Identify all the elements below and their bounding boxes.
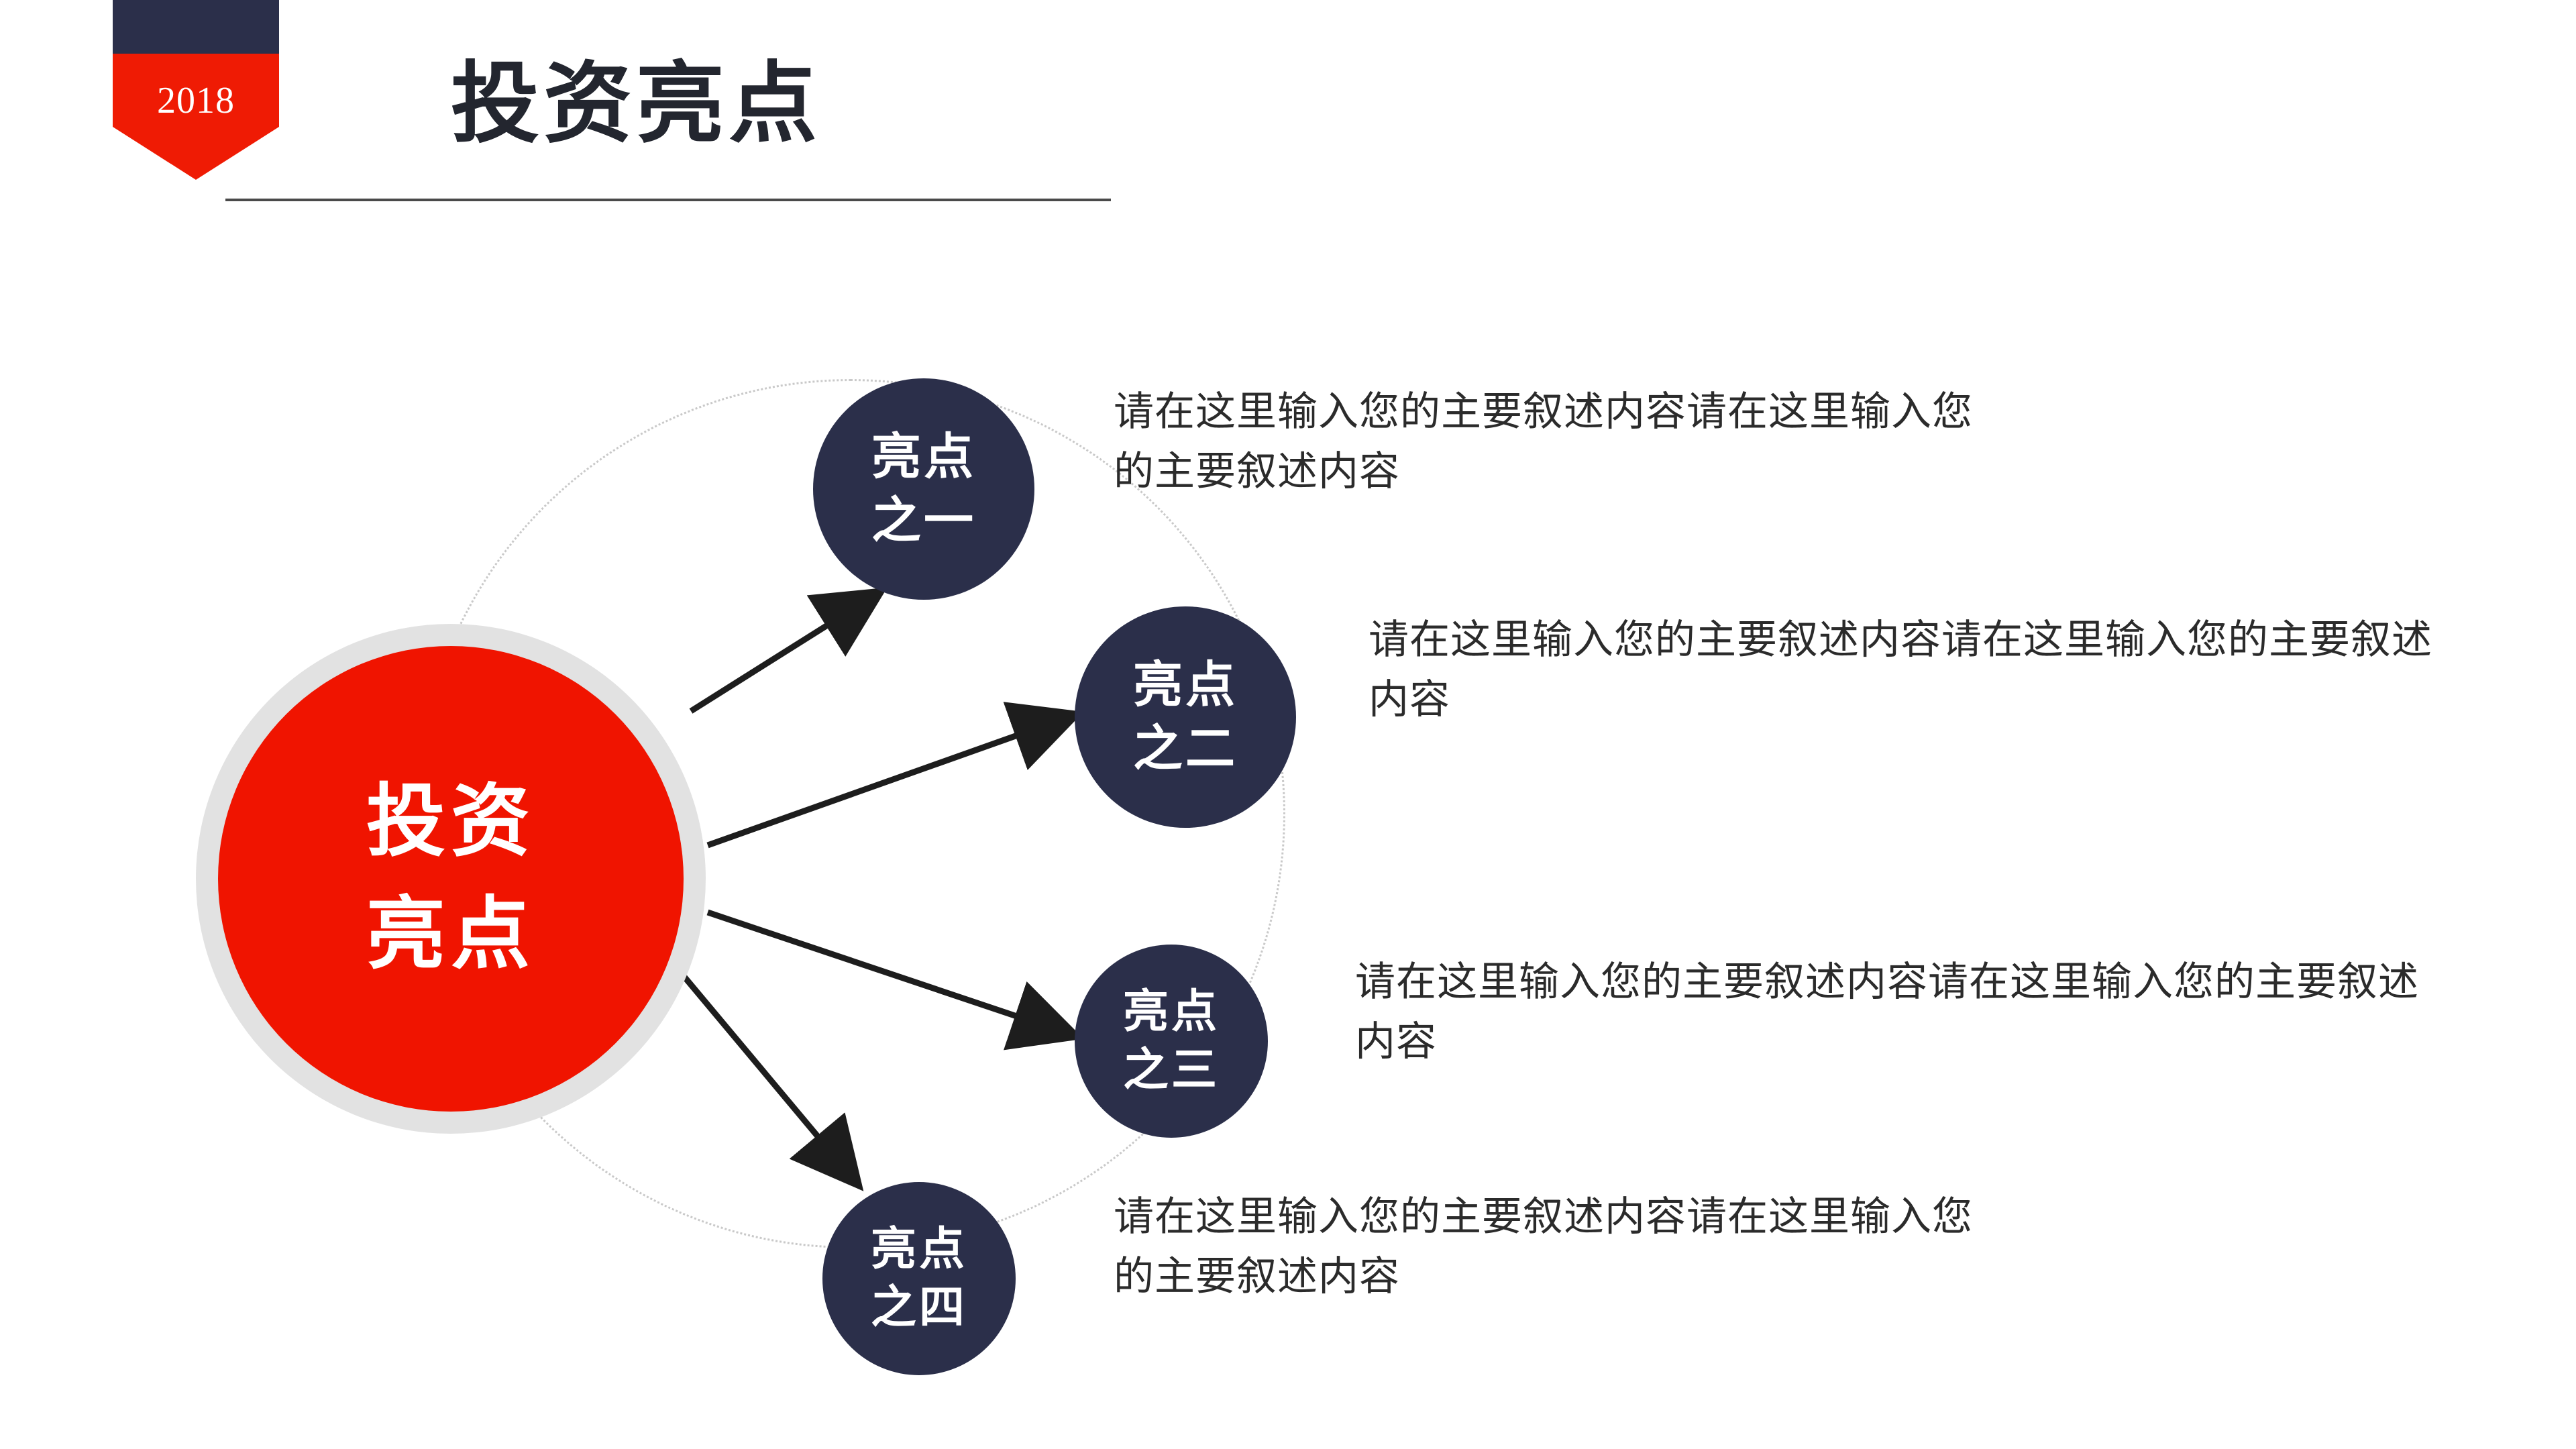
page-title: 投资亮点 [451,32,821,160]
title-underline [225,199,1111,201]
arrow-to-node-4 [681,973,852,1177]
node-3-label-line2: 之三 [1123,1041,1220,1099]
ribbon-navy-band [113,0,279,54]
node-2-label-line2: 之二 [1133,717,1238,781]
node-circle-2[interactable]: 亮点 之二 [1075,606,1296,828]
node-1-description: 请在这里输入您的主要叙述内容请在这里输入您的主要叙述内容 [1114,382,1986,502]
node-2-label-line1: 亮点 [1133,653,1238,717]
node-4-label-line1: 亮点 [871,1220,967,1279]
node-circle-1[interactable]: 亮点 之一 [813,378,1034,600]
node-1-label-line2: 之一 [871,489,976,553]
node-2-description: 请在这里输入您的主要叙述内容请在这里输入您的主要叙述内容 [1368,610,2455,730]
node-3-description: 请在这里输入您的主要叙述内容请在这里输入您的主要叙述内容 [1355,953,2428,1072]
hub-label-line1: 投资 [366,766,535,879]
hub-circle[interactable]: 投资 亮点 [218,646,684,1112]
node-3-label-line1: 亮点 [1123,983,1220,1041]
arrow-to-node-1 [691,597,872,711]
node-4-label-line2: 之四 [871,1279,967,1337]
hub-label-line2: 亮点 [366,879,535,991]
ribbon-year-label: 2018 [113,79,279,122]
node-circle-4[interactable]: 亮点 之四 [822,1182,1016,1375]
node-1-label-line1: 亮点 [871,425,976,489]
diagram-stage: 投资 亮点 亮点 之一 请在这里输入您的主要叙述内容请在这里输入您的主要叙述内容… [0,221,2576,1449]
year-ribbon: 2018 [113,0,279,180]
node-4-description: 请在这里输入您的主要叙述内容请在这里输入您的主要叙述内容 [1114,1187,1999,1307]
arrow-to-node-2 [708,718,1067,845]
arrow-to-node-3 [708,912,1067,1033]
node-circle-3[interactable]: 亮点 之三 [1075,945,1268,1138]
